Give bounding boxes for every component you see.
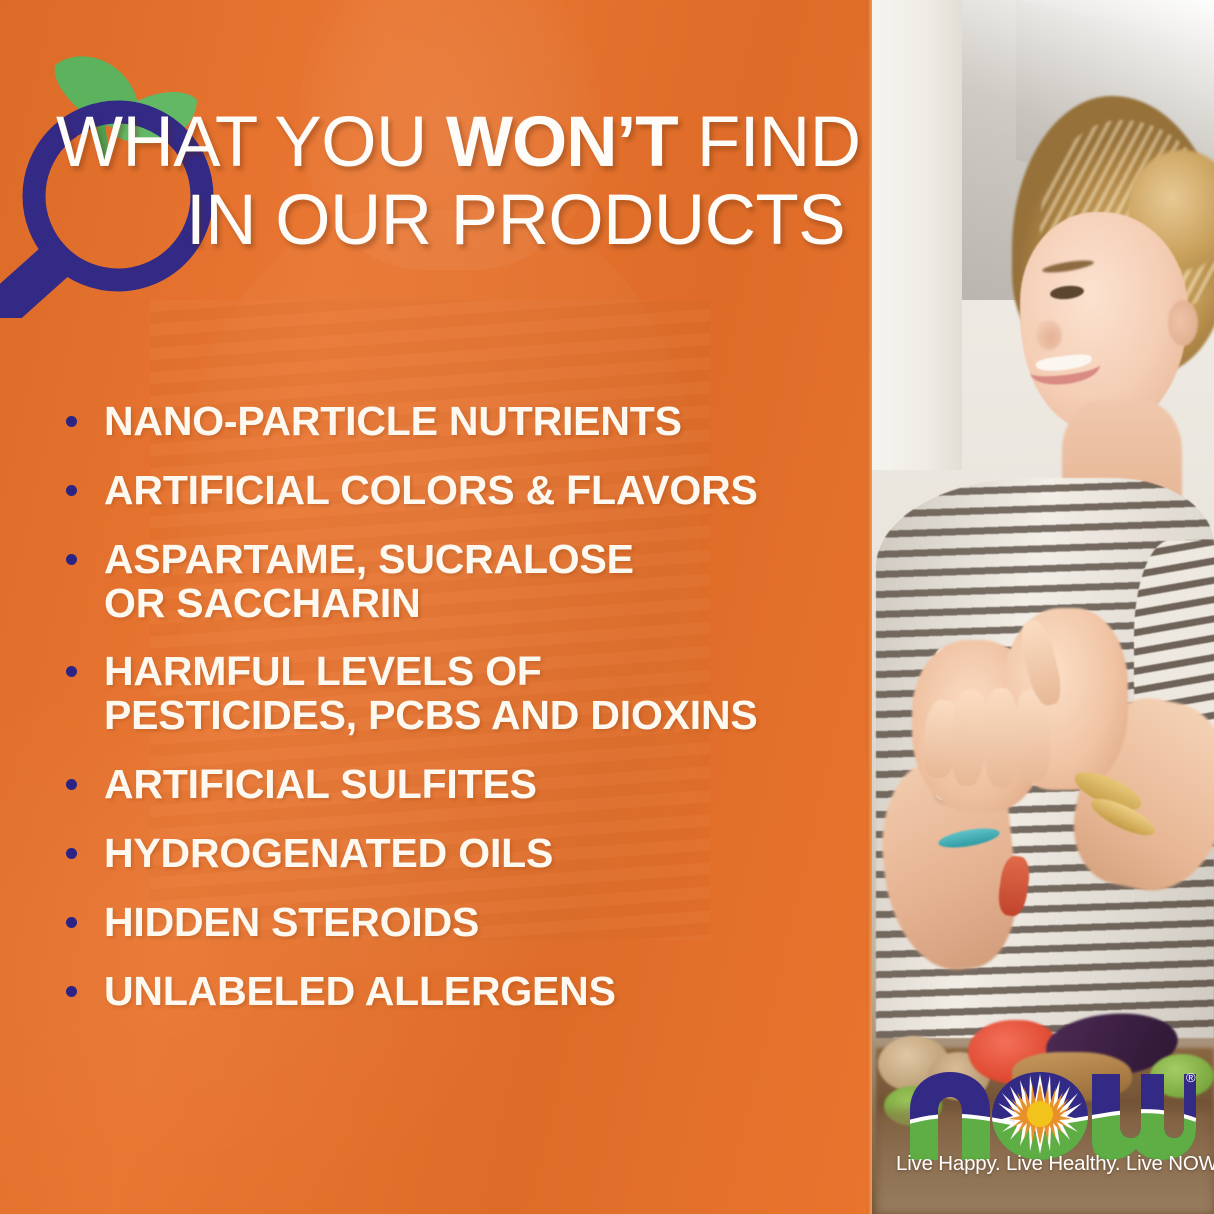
list-item-line-2: OR SACCHARIN: [104, 582, 862, 626]
headline-text-after: FIND: [678, 103, 861, 182]
list-item-line-1: HYDROGENATED OILS: [104, 830, 553, 876]
woman-nose: [1036, 320, 1062, 350]
page-title: WHAT YOU WON’T FIND IN OUR PRODUCTS: [56, 108, 1196, 255]
bullet-dot-icon: [66, 416, 77, 427]
list-item: HYDROGENATED OILS: [62, 832, 862, 876]
marketing-poster: WHAT YOU WON’T FIND IN OUR PRODUCTS NANO…: [0, 0, 1214, 1214]
bullet-dot-icon: [66, 485, 77, 496]
excluded-ingredients-list: NANO-PARTICLE NUTRIENTS ARTIFICIAL COLOR…: [62, 400, 862, 1039]
headline-line-1: WHAT YOU WON’T FIND: [56, 108, 1196, 178]
list-item: HARMFUL LEVELS OF PESTICIDES, PCBS AND D…: [62, 650, 862, 738]
list-item: NANO-PARTICLE NUTRIENTS: [62, 400, 862, 444]
headline-emphasis: WON’T: [446, 103, 678, 182]
list-item: ARTIFICIAL SULFITES: [62, 763, 862, 807]
list-item-line-1: NANO-PARTICLE NUTRIENTS: [104, 398, 682, 444]
list-item: ARTIFICIAL COLORS & FLAVORS: [62, 469, 862, 513]
bullet-dot-icon: [66, 666, 77, 677]
finger: [984, 688, 1018, 788]
headline-line-2: IN OUR PRODUCTS: [56, 186, 1196, 256]
list-item-line-1: HARMFUL LEVELS OF: [104, 648, 542, 694]
list-item: UNLABELED ALLERGENS: [62, 970, 862, 1014]
list-item-line-1: UNLABELED ALLERGENS: [104, 968, 616, 1014]
bullet-dot-icon: [66, 779, 77, 790]
list-item-line-1: ARTIFICIAL SULFITES: [104, 761, 537, 807]
list-item-line-1: HIDDEN STEROIDS: [104, 899, 479, 945]
brand-tagline: Live Happy. Live Healthy. Live NOW.: [896, 1152, 1206, 1176]
sun-core: [1027, 1101, 1053, 1127]
list-item-line-1: ASPARTAME, SUCRALOSE: [104, 536, 634, 582]
list-item-line-1: ARTIFICIAL COLORS & FLAVORS: [104, 467, 758, 513]
list-item: HIDDEN STEROIDS: [62, 901, 862, 945]
list-item-line-2: PESTICIDES, PCBS AND DIOXINS: [104, 694, 862, 738]
bullet-dot-icon: [66, 917, 77, 928]
list-item: ASPARTAME, SUCRALOSE OR SACCHARIN: [62, 538, 862, 626]
headline-text-before: WHAT YOU: [56, 103, 446, 182]
now-foods-logo: ®: [896, 1064, 1196, 1164]
woman-ear: [1168, 300, 1198, 346]
bullet-dot-icon: [66, 554, 77, 565]
registered-trademark-mark: ®: [1186, 1070, 1196, 1085]
bullet-dot-icon: [66, 848, 77, 859]
bullet-dot-icon: [66, 986, 77, 997]
